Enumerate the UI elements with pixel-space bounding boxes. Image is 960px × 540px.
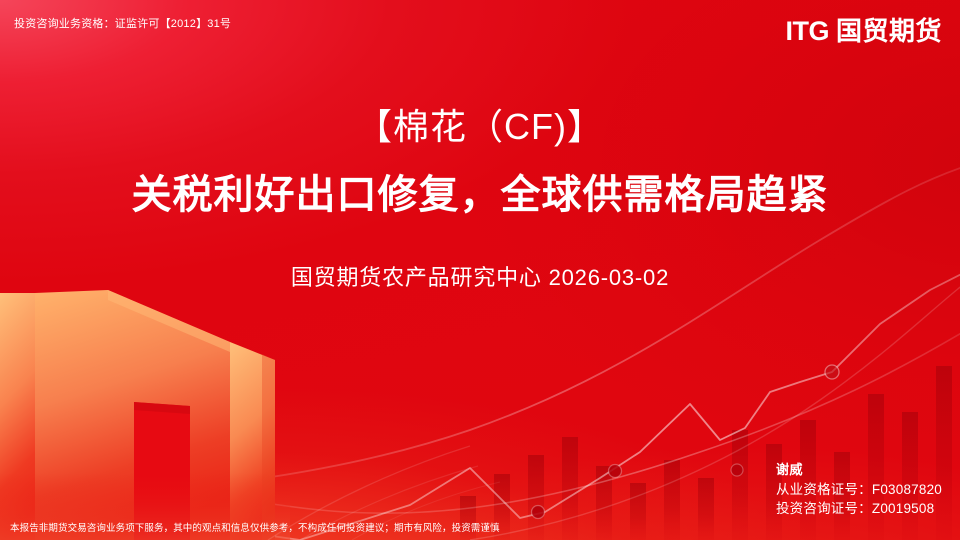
logo-company-name: 国贸期货: [836, 18, 942, 44]
logo-mark-text: ITG: [785, 18, 829, 45]
author-consult-cert: 投资咨询证号：Z0019508: [776, 499, 942, 518]
page-title-headline: 关税利好出口修复，全球供需格局趋紧: [0, 169, 960, 221]
license-text: 投资咨询业务资格：证监许可【2012】31号: [14, 19, 231, 30]
author-practice-cert: 从业资格证号：F03087820: [776, 480, 942, 499]
itg-logo[interactable]: ITG 国贸期货: [785, 18, 942, 45]
footer-disclaimer: 本报告非期货交易咨询业务项下服务，其中的观点和信息仅供参考，不构成任何投资建议；…: [10, 523, 500, 534]
page-title-product: 【棉花（CF)】: [0, 104, 960, 150]
title-block: 【棉花（CF)】 关税利好出口修复，全球供需格局趋紧 国贸期货农产品研究中心 2…: [0, 104, 960, 293]
author-name: 谢威: [776, 461, 942, 479]
page-title-meta: 国贸期货农产品研究中心 2026-03-02: [0, 264, 960, 293]
author-block: 谢威 从业资格证号：F03087820 投资咨询证号：Z0019508: [776, 461, 942, 518]
report-cover-slide: 投资咨询业务资格：证监许可【2012】31号 ITG 国贸期货 【棉花（CF)】…: [0, 0, 960, 540]
